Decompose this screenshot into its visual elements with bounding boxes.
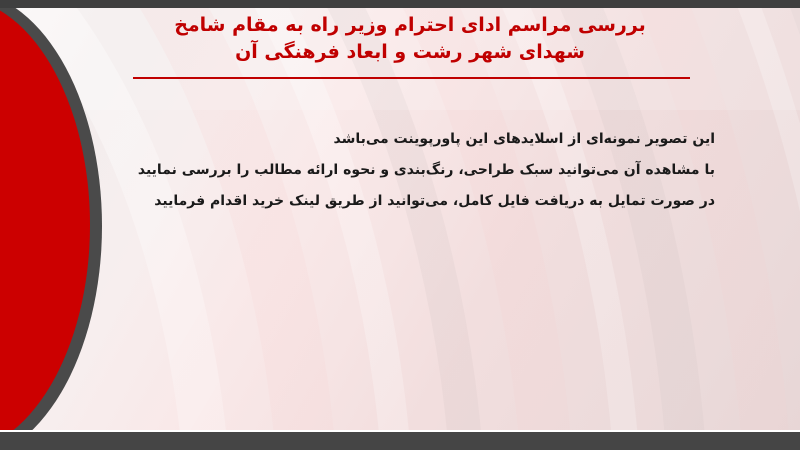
body-line-1: این تصویر نمونه‌ای از اسلایدهای این پاور…: [75, 124, 715, 155]
body-line-2: با مشاهده آن می‌توانید سبک طراحی، رنگ‌بن…: [75, 155, 715, 186]
title-line-1: بررسی مراسم ادای احترام وزیر راه به مقام…: [90, 12, 730, 39]
slide-title: بررسی مراسم ادای احترام وزیر راه به مقام…: [90, 12, 730, 66]
body-line-3: در صورت تمایل به دریافت فایل کامل، می‌تو…: [75, 186, 715, 217]
background-arc-texture: [0, 0, 800, 450]
title-line-2: شهدای شهر رشت و ابعاد فرهنگی آن: [90, 39, 730, 66]
slide-body-text: این تصویر نمونه‌ای از اسلایدهای این پاور…: [75, 124, 715, 217]
bottom-accent-band: [0, 432, 800, 450]
title-underline-rule: [133, 77, 690, 79]
top-accent-band: [0, 0, 800, 8]
presentation-slide: بررسی مراسم ادای احترام وزیر راه به مقام…: [0, 0, 800, 450]
